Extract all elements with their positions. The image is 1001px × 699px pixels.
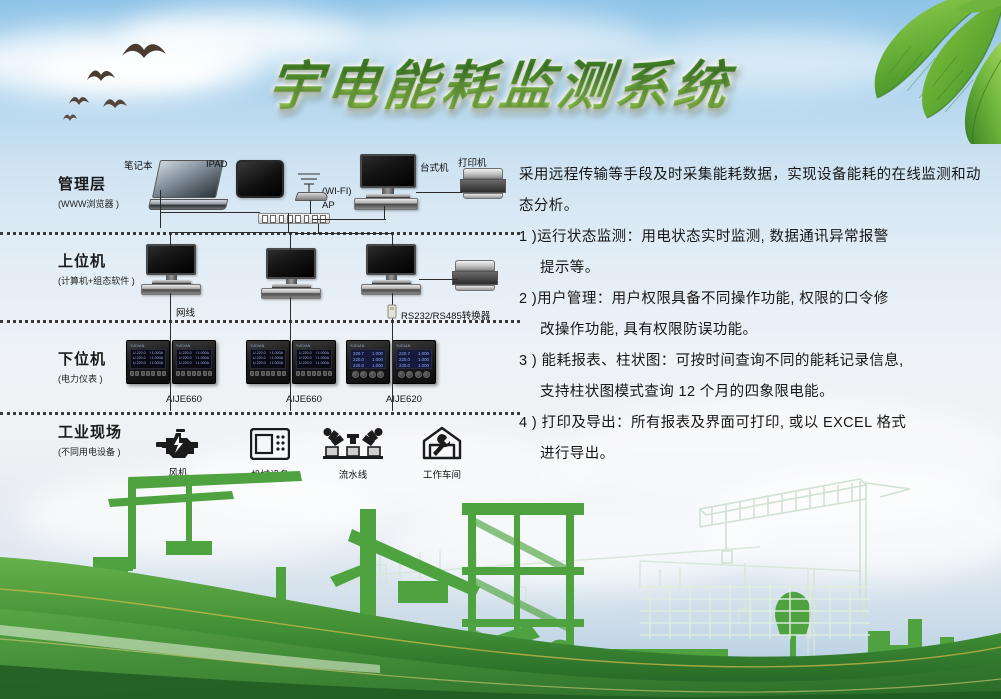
panel-item-2-cont: 改操作功能, 具有权限防误功能。: [519, 315, 987, 346]
layer-sub: (电力仪表 ): [58, 372, 106, 385]
monitor-screen: [360, 154, 416, 188]
construction-silhouette-scene: [0, 469, 1001, 699]
layer-sub: (计算机+组态软件 ): [58, 274, 135, 287]
wire: [288, 213, 289, 233]
wire: [170, 232, 171, 246]
host-monitor-1: [146, 244, 196, 286]
monitor-screen: [366, 244, 416, 275]
host-printer-icon: [452, 260, 498, 291]
layer-sub: (不同用电设备 ): [58, 445, 122, 458]
workshop-house-icon: [422, 426, 462, 460]
layer-label-slave: 下位机 (电力仪表 ): [58, 348, 106, 385]
panel-intro: 采用远程传输等手段及时采集能耗数据，实现设备能耗的在线监测和动态分析。: [519, 160, 987, 222]
meter-aije660-a: YUDIAN U 220.0I 1.000A U 220.0I 1.000A U…: [126, 340, 170, 384]
panel-item-2-head: 2 )用户管理：用户权限具备不同操作功能, 权限的口令修: [519, 284, 987, 315]
pc-tower-icon: [354, 198, 418, 210]
robot-arm-icon: [322, 426, 384, 460]
wire: [416, 192, 462, 193]
wire: [290, 321, 291, 411]
meter-lcd: 220.71.000 220.01.000 220.01.000: [350, 349, 386, 369]
machine-panel-icon: [250, 428, 290, 460]
wire: [170, 293, 171, 321]
meter-aije660-c: YUDIAN U 220.0I 1.000A U 220.0I 1.000A U…: [246, 340, 290, 384]
monitor-neck: [382, 188, 394, 194]
meter-brand: YUDIAN: [250, 344, 286, 348]
meter-aije620-b: YUDIAN 220.71.000 220.01.000 220.01.000: [392, 340, 436, 384]
wire: [419, 279, 457, 280]
wifi-icon: [296, 171, 322, 193]
panel-item-4-head: 4 ) 打印及导出：所有报表及界面可打印, 或以 EXCEL 格式: [519, 408, 987, 439]
meter-lcd: U 220.0I 1.000A U 220.0I 1.000A U 220.0I…: [250, 349, 286, 369]
monitor-screen: [146, 244, 196, 275]
wire: [170, 232, 295, 233]
wire: [290, 232, 291, 250]
system-architecture-diagram: 管理层 (WWW浏览器 ) 上位机 (计算机+组态软件 ) 下位机 (电力仪表 …: [0, 140, 520, 500]
host-monitor-3: [366, 244, 416, 286]
wire: [384, 206, 385, 220]
meter-lcd: U 220.0I 1.000A U 220.0I 1.000A U 220.0I…: [130, 349, 166, 369]
layer-name: 管理层: [58, 173, 119, 194]
wire: [170, 321, 171, 411]
wire: [290, 297, 291, 321]
wire: [160, 212, 260, 213]
panel-item-4-cont: 进行导出。: [519, 439, 987, 470]
panel-item-1-cont: 提示等。: [519, 253, 987, 284]
monitor-screen: [266, 248, 316, 279]
layer-label-field: 工业现场 (不同用电设备 ): [58, 421, 122, 458]
panel-item-3-cont: 支持柱状图模式查询 12 个月的四象限电能。: [519, 377, 987, 408]
meter-brand: YUDIAN: [350, 344, 386, 348]
layer-sub: (WWW浏览器 ): [58, 197, 119, 210]
fan-engine-icon: [156, 428, 200, 458]
tablet-icon: [236, 160, 284, 198]
meter-aije660-b: YUDIAN U 220.0I 1.000A U 220.0I 1.000A U…: [172, 340, 216, 384]
device-label-desktop: 台式机: [420, 160, 449, 174]
device-label-ipad: IPAD: [206, 159, 227, 170]
printer-icon: [460, 168, 506, 199]
meter-brand: YUDIAN: [396, 344, 432, 348]
label-rs232-converter: RS232/RS485转换器: [401, 308, 490, 322]
divider-slave-field: [0, 412, 520, 415]
desktop-icon: [360, 154, 416, 200]
device-label-printer: 打印机: [458, 155, 487, 169]
wire: [312, 219, 386, 220]
wire: [310, 200, 311, 214]
meter-aije620-a: YUDIAN 220.71.000 220.01.000 220.01.000: [346, 340, 390, 384]
page-title: 宇电能耗监测系统: [0, 44, 1001, 120]
layer-label-host: 上位机 (计算机+组态软件 ): [58, 250, 135, 287]
meter-brand: YUDIAN: [176, 344, 212, 348]
meter-lcd: U 220.0I 1.000A U 220.0I 1.000A U 220.0I…: [176, 349, 212, 369]
wire: [160, 190, 161, 228]
meter-lcd: 220.71.000 220.01.000 220.01.000: [396, 349, 432, 369]
wire: [392, 321, 393, 411]
label-network-cable: 网线: [176, 305, 195, 319]
meter-aije660-d: YUDIAN U 220.0I 1.000A U 220.0I 1.000A U…: [292, 340, 336, 384]
wire: [392, 232, 393, 246]
panel-item-3-head: 3 ) 能耗报表、柱状图：可按时间查询不同的能耗记录信息,: [519, 346, 987, 377]
device-label-laptop: 笔记本: [124, 158, 153, 172]
host-monitor-2: [266, 248, 316, 290]
device-label-ap: AP: [322, 200, 335, 211]
poster-root: 宇电能耗监测系统 管理层 (WWW浏览器 ) 上位机 (计算机+组态软件 ) 下…: [0, 0, 1001, 699]
meter-brand: YUDIAN: [296, 344, 332, 348]
wire: [295, 233, 393, 234]
description-panel: 采用远程传输等手段及时采集能耗数据，实现设备能耗的在线监测和动态分析。 1 )运…: [519, 160, 987, 470]
rs232-converter-icon: [385, 304, 399, 320]
rebar-frame-right: [640, 581, 870, 639]
layer-name: 工业现场: [58, 421, 122, 442]
meter-lcd: U 220.0I 1.000A U 220.0I 1.000A U 220.0I…: [296, 349, 332, 369]
meter-brand: YUDIAN: [130, 344, 166, 348]
layer-name: 上位机: [58, 250, 135, 271]
host-pc-3: [361, 284, 421, 295]
layer-label-management: 管理层 (WWW浏览器 ): [58, 173, 119, 210]
layer-name: 下位机: [58, 348, 106, 369]
panel-item-1-head: 1 )运行状态监测：用电状态实时监测, 数据通讯异常报警: [519, 222, 987, 253]
